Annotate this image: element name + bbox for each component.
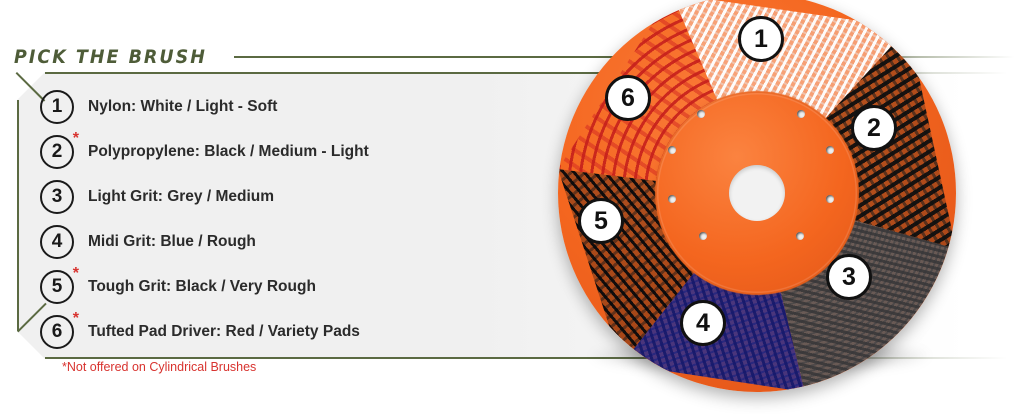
list-item[interactable]: 4 Midi Grit: Blue / Rough bbox=[40, 219, 560, 264]
list-badge-4: 4 bbox=[40, 225, 74, 259]
hub-mounting-hole bbox=[796, 232, 804, 240]
list-badge-6: 6 * bbox=[40, 315, 74, 349]
list-item-label: Tough Grit: Black / Very Rough bbox=[88, 278, 316, 296]
list-badge-5: 5 * bbox=[40, 270, 74, 304]
asterisk-icon: * bbox=[73, 266, 79, 282]
list-item-label: Tufted Pad Driver: Red / Variety Pads bbox=[88, 323, 360, 341]
list-item[interactable]: 3 Light Grit: Grey / Medium bbox=[40, 174, 560, 219]
hub-mounting-hole bbox=[797, 110, 805, 118]
asterisk-icon: * bbox=[73, 131, 79, 147]
list-item[interactable]: 2 * Polypropylene: Black / Medium - Ligh… bbox=[40, 129, 560, 174]
brush-disc-figure: 1 2 3 4 5 6 bbox=[548, 0, 968, 406]
list-item[interactable]: 6 * Tufted Pad Driver: Red / Variety Pad… bbox=[40, 309, 560, 354]
disc-center-hole bbox=[729, 165, 785, 221]
hub-mounting-hole bbox=[697, 110, 705, 118]
list-item[interactable]: 1 Nylon: White / Light - Soft bbox=[40, 84, 560, 129]
brush-type-list: 1 Nylon: White / Light - Soft 2 * Polypr… bbox=[40, 84, 560, 354]
list-item-label: Midi Grit: Blue / Rough bbox=[88, 233, 256, 251]
list-badge-number: 6 bbox=[52, 322, 63, 341]
footnote-text: *Not offered on Cylindrical Brushes bbox=[62, 360, 256, 374]
hub-mounting-hole bbox=[826, 146, 834, 154]
disc-badge-4[interactable]: 4 bbox=[680, 300, 726, 346]
list-badge-number: 1 bbox=[52, 97, 63, 116]
list-badge-number: 2 bbox=[52, 142, 63, 161]
list-badge-1: 1 bbox=[40, 90, 74, 124]
disc-badge-1[interactable]: 1 bbox=[738, 16, 784, 62]
hub-mounting-hole bbox=[826, 195, 834, 203]
disc-badge-3[interactable]: 3 bbox=[826, 254, 872, 300]
hub-mounting-hole bbox=[668, 195, 676, 203]
disc-badge-2[interactable]: 2 bbox=[851, 105, 897, 151]
list-badge-number: 4 bbox=[52, 232, 63, 251]
hub-mounting-hole bbox=[699, 232, 707, 240]
panel-border-left bbox=[17, 100, 19, 331]
page-title: PICK THE BRUSH bbox=[14, 46, 207, 68]
list-item-label: Light Grit: Grey / Medium bbox=[88, 188, 274, 206]
hub-mounting-hole bbox=[668, 146, 676, 154]
asterisk-icon: * bbox=[73, 311, 79, 327]
list-badge-3: 3 bbox=[40, 180, 74, 214]
list-item[interactable]: 5 * Tough Grit: Black / Very Rough bbox=[40, 264, 560, 309]
list-badge-number: 5 bbox=[52, 277, 63, 296]
list-badge-number: 3 bbox=[52, 187, 63, 206]
disc-badge-6[interactable]: 6 bbox=[605, 75, 651, 121]
list-item-label: Nylon: White / Light - Soft bbox=[88, 98, 277, 116]
disc-badge-5[interactable]: 5 bbox=[578, 198, 624, 244]
list-item-label: Polypropylene: Black / Medium - Light bbox=[88, 143, 369, 161]
list-badge-2: 2 * bbox=[40, 135, 74, 169]
